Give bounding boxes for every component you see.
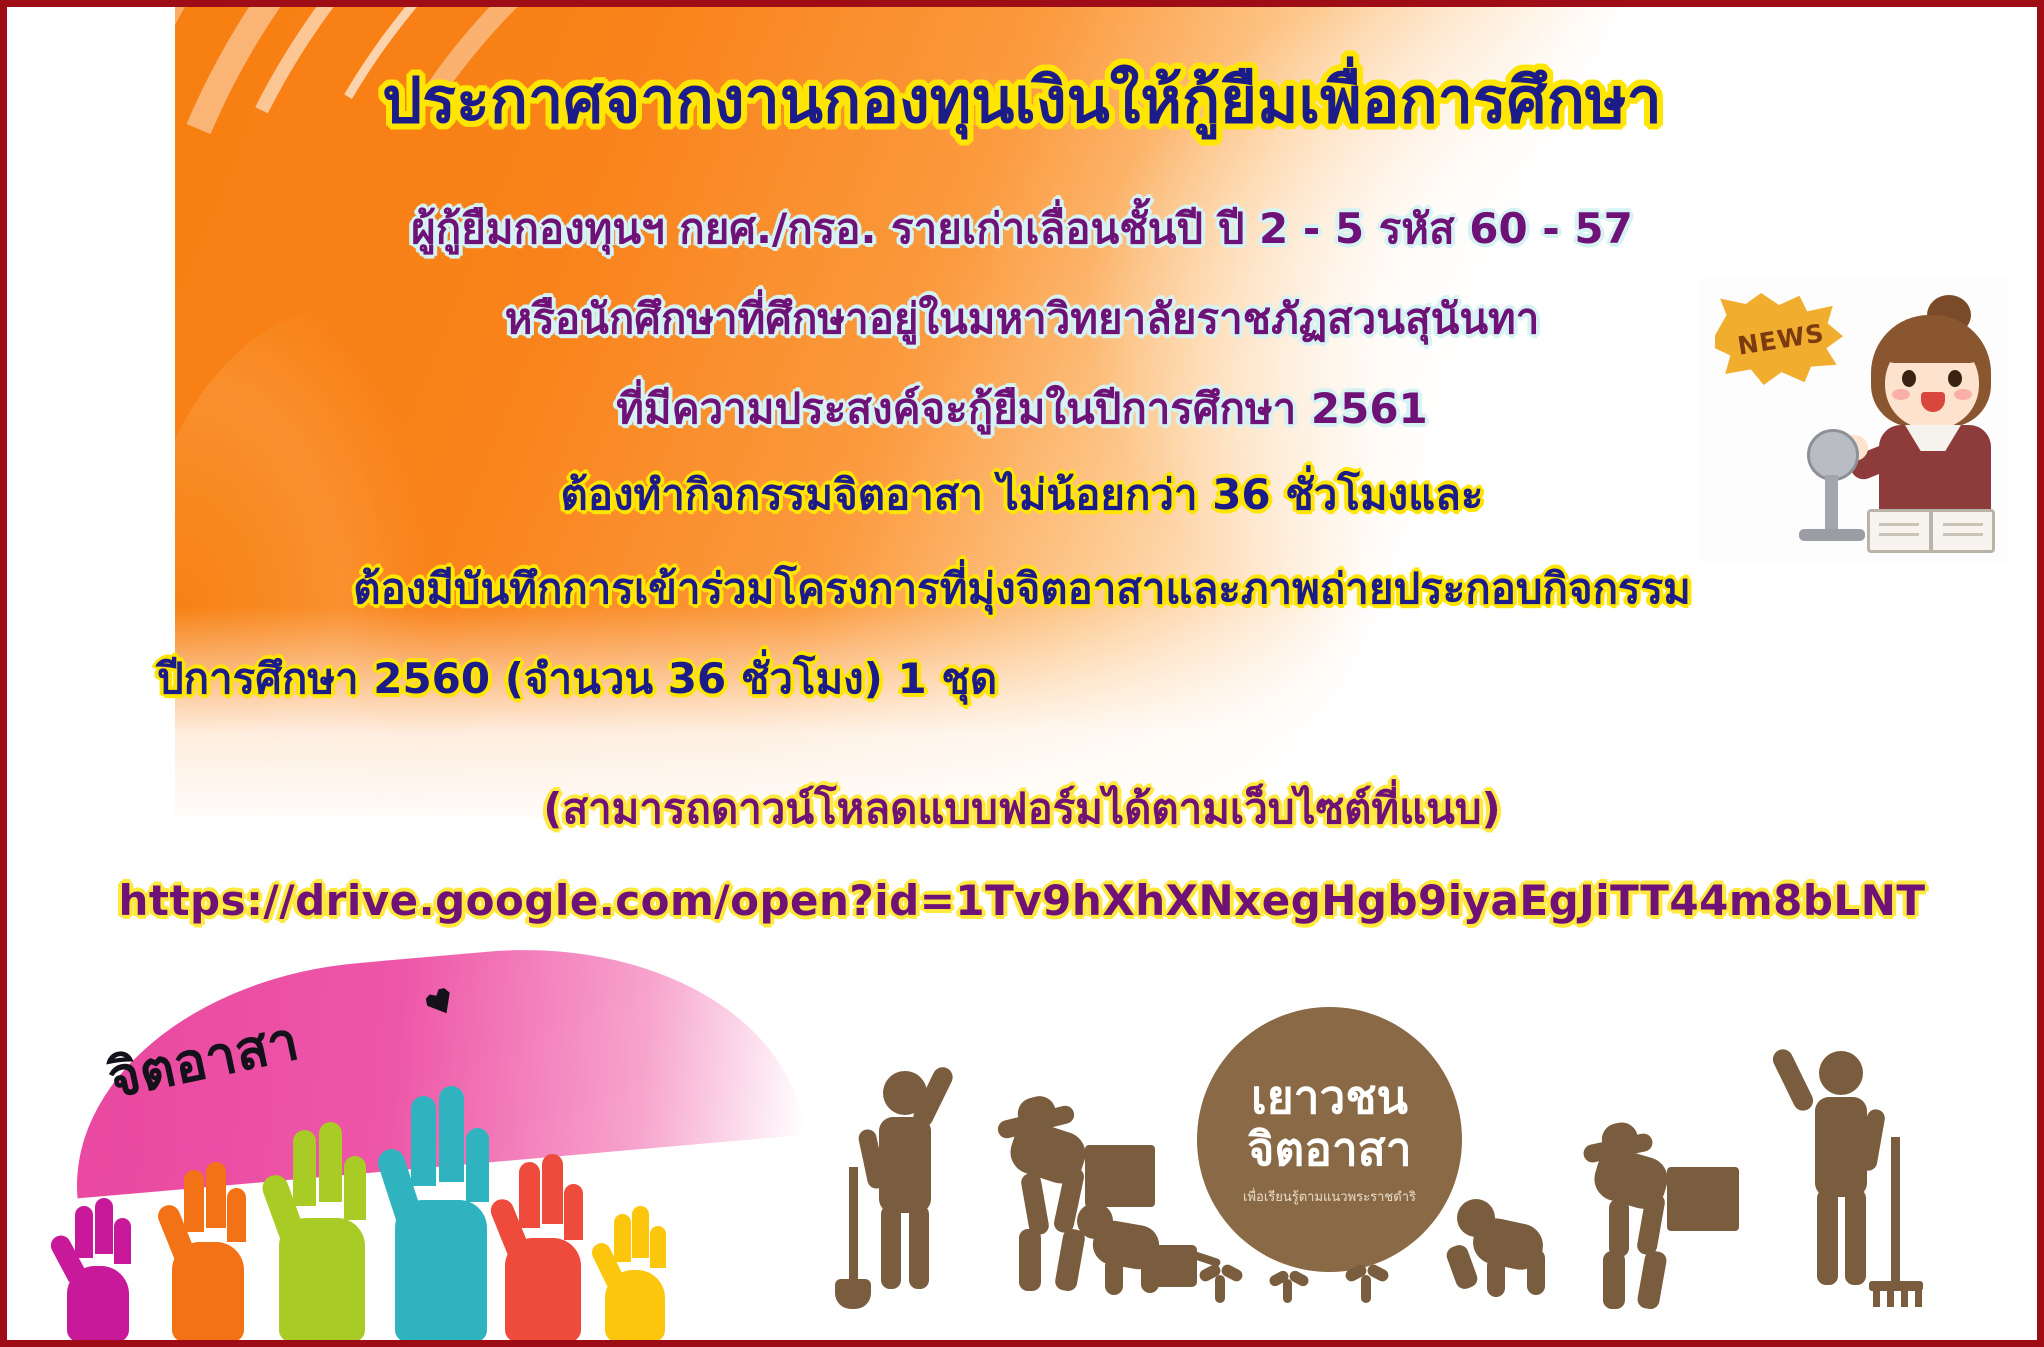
microphone-icon [1807, 429, 1859, 481]
page-title: ประกาศจากงานกองทุนเงินให้กู้ยืมเพื่อการศ… [7, 69, 2037, 132]
book-text-line [1943, 533, 1983, 536]
hand-orange [172, 1152, 244, 1342]
girl-cheek-left [1892, 389, 1910, 400]
hand-red [505, 1146, 581, 1342]
body-line-5: ต้องมีบันทึกการเข้าร่วมโครงการที่มุ่งจิต… [7, 567, 2037, 611]
download-note: (สามารถดาวน์โหลดแบบฟอร์มได้ตามเว็บไซต์ที… [7, 787, 2037, 831]
girl-eye-left [1902, 370, 1916, 387]
book-text-line [1879, 523, 1919, 526]
book-spine [1929, 509, 1933, 553]
book-text-line [1943, 523, 1983, 526]
youth-volunteer-logo: เยาวชน จิตอาสา เพื่อเรียนรู้ตามแนวพระราช… [1197, 1007, 1462, 1272]
poster-root: ประกาศจากงานกองทุนเงินให้กู้ยืมเพื่อการศ… [0, 0, 2044, 1347]
logo-line-2: จิตอาสา [1247, 1124, 1411, 1176]
girl-cheek-right [1954, 389, 1972, 400]
volunteer-silhouettes: เยาวชน จิตอาสา เพื่อเรียนรู้ตามแนวพระราช… [827, 1017, 2007, 1347]
girl-fringe [1883, 329, 1981, 363]
jitasa-hands-graphic: จิตอาสา [27, 947, 797, 1342]
book-text-line [1879, 533, 1919, 536]
hand-yellow [605, 1200, 665, 1342]
microphone-base [1799, 529, 1865, 541]
hand-green [279, 1110, 365, 1342]
girl-eye-right [1948, 370, 1962, 387]
body-line-6: ปีการศึกษา 2560 (จำนวน 36 ชั่วโมง) 1 ชุด [157, 657, 997, 701]
form-download-url[interactable]: https://drive.google.com/open?id=1Tv9hXh… [7, 879, 2037, 923]
news-announcer-image: NEWS [1699, 277, 2009, 562]
body-line-1: ผู้กู้ยืมกองทุนฯ กยศ./กรอ. รายเก่าเลื่อน… [7, 207, 2037, 251]
hand-teal [395, 1074, 487, 1342]
hand-magenta [67, 1192, 129, 1342]
microphone-stand [1825, 475, 1838, 535]
logo-subtitle: เพื่อเรียนรู้ตามแนวพระราชดำริ [1243, 1186, 1416, 1207]
logo-line-1: เยาวชน [1251, 1072, 1408, 1124]
